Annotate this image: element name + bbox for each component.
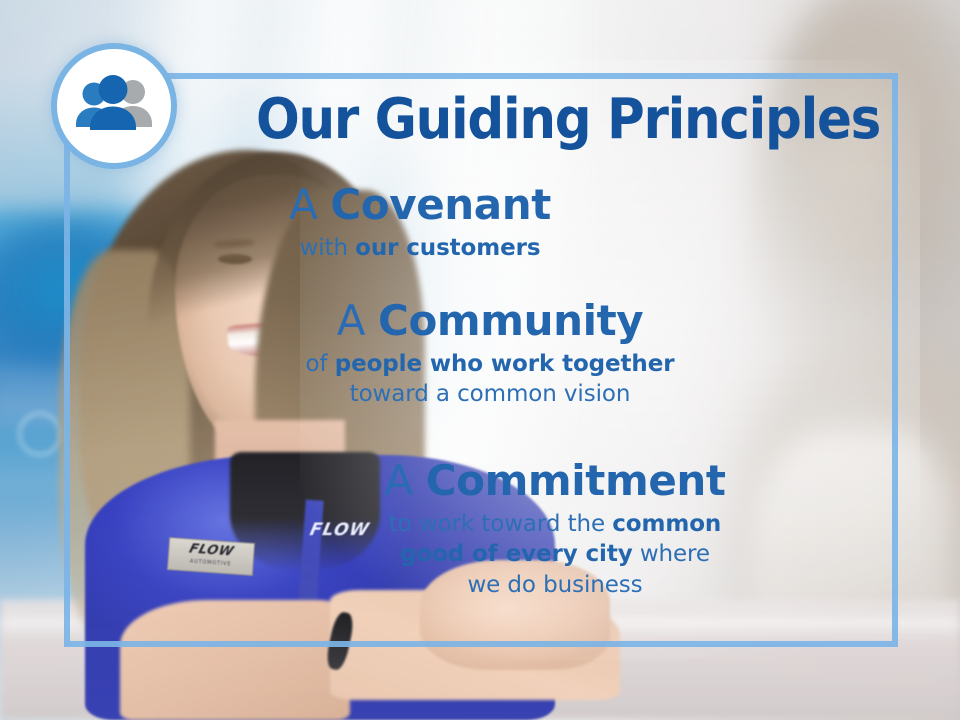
text-run: we do business xyxy=(467,572,642,598)
principle-covenant-heading: A Covenant xyxy=(0,184,900,227)
principle-commitment-keyword: Commitment xyxy=(426,456,726,505)
text-run-bold: people who work together xyxy=(335,351,675,377)
text-run: to work toward the xyxy=(389,511,613,537)
principle-commitment-subtext-line-1: to work toward the common xyxy=(75,509,960,539)
principle-commitment-subtext-line-3: we do business xyxy=(75,570,960,600)
principle-covenant-subtext-line-1: with our customers xyxy=(0,233,900,263)
principle-commitment-subtext-line-2: good of every city where xyxy=(75,539,960,569)
principle-community-article: A xyxy=(337,296,378,345)
text-run: with xyxy=(300,235,356,261)
poster-canvas: FLOW FLOW AUTOMOTIVE Our Guiding Princip… xyxy=(0,0,960,720)
text-run-bold: good of every city xyxy=(400,541,633,567)
principle-community: A Community of people who work together … xyxy=(10,300,960,410)
page-title: Our Guiding Principles xyxy=(70,92,880,148)
principle-community-subtext-line-2: toward a common vision xyxy=(10,379,960,409)
text-run: of xyxy=(306,351,335,377)
principle-covenant-article: A xyxy=(289,180,330,229)
text-run: where xyxy=(633,541,710,567)
principle-covenant: A Covenant with our customers xyxy=(0,184,900,263)
text-run-bold: common xyxy=(612,511,721,537)
principle-commitment-article: A xyxy=(384,456,425,505)
principle-commitment: A Commitment to work toward the common g… xyxy=(75,460,960,600)
text-run: toward a common vision xyxy=(350,381,631,407)
principle-covenant-subtext: with our customers xyxy=(0,233,900,263)
principle-community-heading: A Community xyxy=(10,300,960,343)
text-run-bold: our customers xyxy=(355,235,540,261)
principle-community-keyword: Community xyxy=(378,296,643,345)
principle-covenant-keyword: Covenant xyxy=(330,180,551,229)
principle-community-subtext-line-1: of people who work together xyxy=(10,349,960,379)
poster-text-content: Our Guiding Principles A Covenant with o… xyxy=(0,0,960,720)
principle-commitment-subtext: to work toward the common good of every … xyxy=(75,509,960,600)
principle-community-subtext: of people who work together toward a com… xyxy=(10,349,960,410)
principle-commitment-heading: A Commitment xyxy=(75,460,960,503)
